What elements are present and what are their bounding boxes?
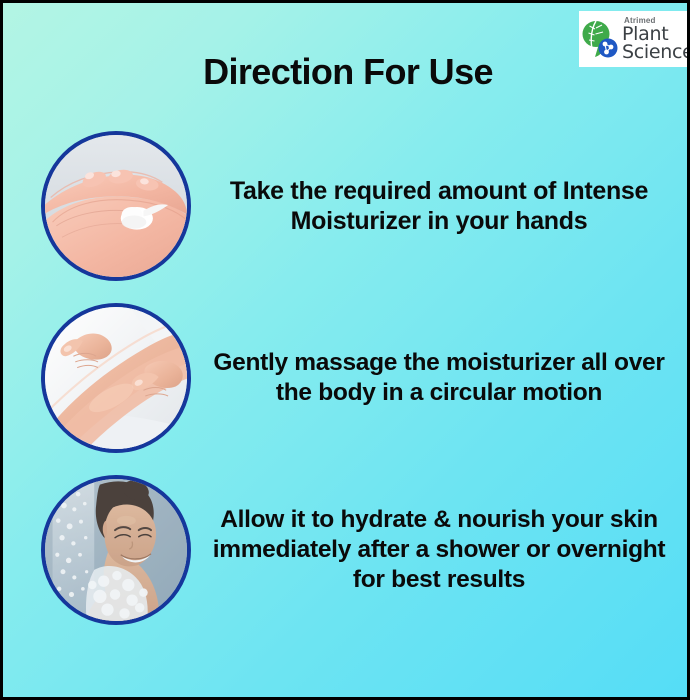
massaging-legs-photo (41, 303, 191, 453)
step-1-text: Take the required amount of Intense Mois… (191, 176, 690, 237)
step-row-2: Gently massage the moisturizer all over … (3, 303, 690, 453)
woman-in-shower-photo (41, 475, 191, 625)
brand-name-plant: Plant (622, 26, 690, 43)
step-row-1: Take the required amount of Intense Mois… (3, 131, 690, 281)
page-title: Direction For Use (3, 51, 690, 93)
step-3-text: Allow it to hydrate & nourish your skin … (191, 505, 690, 595)
direction-for-use-poster: Atrimed Plant Science Direction For Use (0, 0, 690, 700)
step-2-text: Gently massage the moisturizer all over … (191, 348, 690, 408)
hand-with-cream-photo (41, 131, 191, 281)
step-row-3: Allow it to hydrate & nourish your skin … (3, 475, 690, 625)
